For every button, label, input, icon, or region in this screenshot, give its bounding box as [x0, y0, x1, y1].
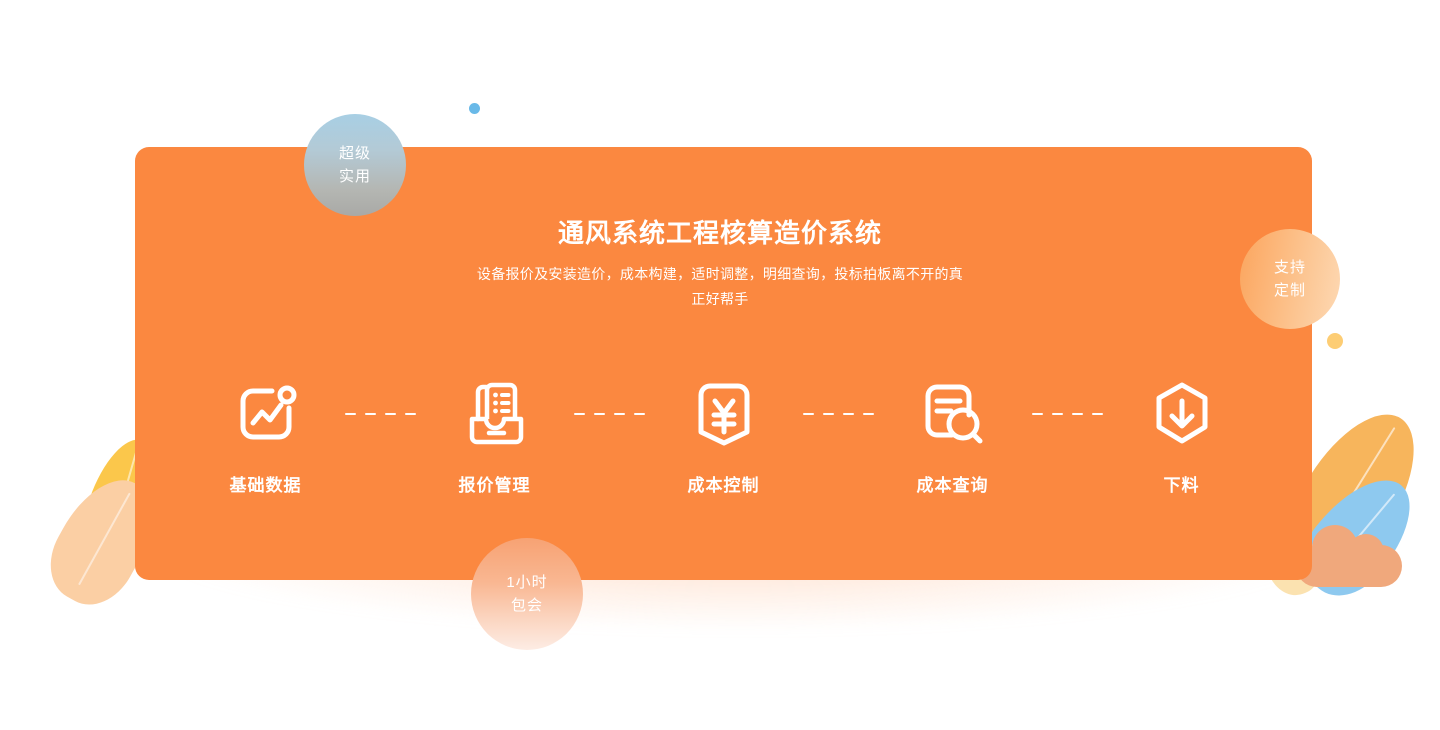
blue-dot-small-decoration	[469, 103, 480, 114]
badge-customization-line2: 定制	[1274, 279, 1306, 302]
chart-square-icon	[227, 375, 305, 453]
connector-dashes-3	[799, 375, 878, 453]
feature-item-material-cutting[interactable]: 下料	[1107, 375, 1257, 496]
hexagon-download-icon	[1143, 375, 1221, 453]
badge-one-hour-line1: 1小时	[506, 571, 547, 594]
badge-super-useful: 超级 实用	[304, 114, 406, 216]
badge-super-useful-line1: 超级	[339, 142, 371, 165]
connector-dashes-1	[341, 375, 420, 453]
gold-dot-decoration	[1327, 333, 1343, 349]
hero-banner: 通风系统工程核算造价系统 设备报价及安装造价，成本构建，适时调整，明细查询，投标…	[0, 0, 1440, 730]
badge-super-useful-line2: 实用	[339, 165, 371, 188]
page-title: 通风系统工程核算造价系统	[0, 213, 1440, 250]
badge-supports-customization: 支持 定制	[1240, 229, 1340, 329]
document-search-icon	[914, 375, 992, 453]
feature-label-cost-query: 成本查询	[917, 471, 989, 496]
inbox-documents-icon	[456, 375, 534, 453]
feature-item-cost-query[interactable]: 成本查询	[878, 375, 1028, 496]
feature-list: 基础数据 报价管理	[135, 375, 1312, 525]
feature-item-quotation-management[interactable]: 报价管理	[420, 375, 570, 496]
badge-one-hour-line2: 包会	[511, 594, 543, 617]
feature-label-material-cutting: 下料	[1164, 471, 1200, 496]
badge-one-hour-mastery: 1小时 包会	[471, 538, 583, 650]
badge-customization-line1: 支持	[1274, 256, 1306, 279]
feature-item-basic-data[interactable]: 基础数据	[191, 375, 341, 496]
feature-label-basic-data: 基础数据	[230, 471, 302, 496]
yuan-badge-icon	[685, 375, 763, 453]
feature-label-quotation-management: 报价管理	[459, 471, 531, 496]
feature-label-cost-control: 成本控制	[688, 471, 760, 496]
connector-dashes-4	[1028, 375, 1107, 453]
feature-item-cost-control[interactable]: 成本控制	[649, 375, 799, 496]
page-subtitle: 设备报价及安装造价，成本构建，适时调整，明细查询，投标拍板离不开的真正好帮手	[470, 262, 970, 312]
connector-dashes-2	[570, 375, 649, 453]
